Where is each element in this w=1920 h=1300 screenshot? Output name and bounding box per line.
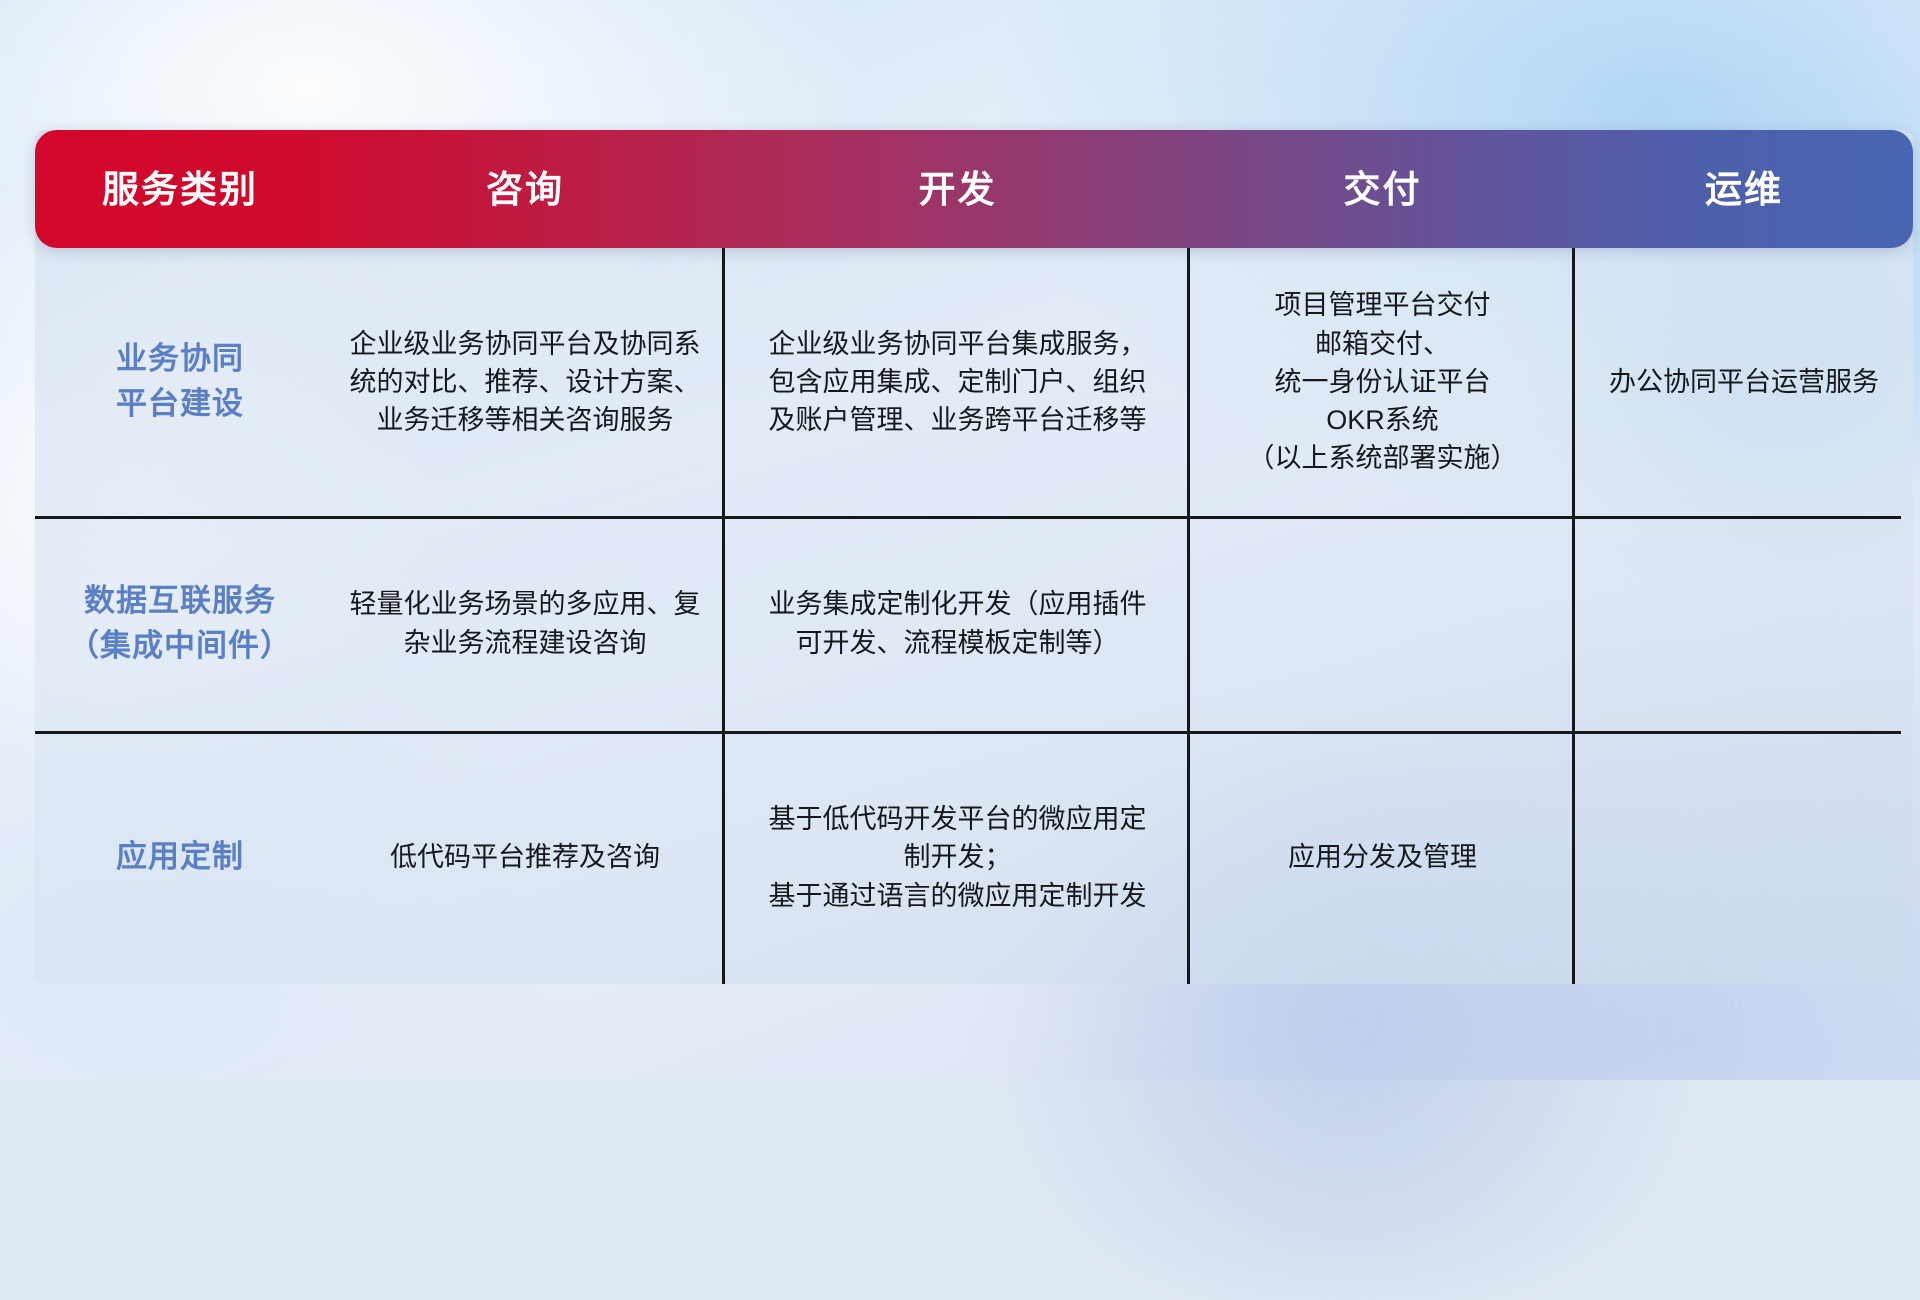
column-header-development: 开发 (725, 130, 1190, 248)
cell-text: 低代码平台推荐及咨询 (390, 838, 660, 876)
cell-text: 基于低代码开发平台的微应用定 制开发； 基于通过语言的微应用定制开发 (769, 800, 1147, 915)
cell-text: 项目管理平台交付 邮箱交付、 统一身份认证平台 OKR系统 （以上系统部署实施） (1248, 286, 1518, 478)
cell-consulting: 轻量化业务场景的多应用、复 杂业务流程建设咨询 (325, 516, 725, 731)
column-header-operations: 运维 (1575, 130, 1913, 248)
cell-development: 企业级业务协同平台集成服务， 包含应用集成、定制门户、组织 及账户管理、业务跨平… (725, 248, 1190, 516)
cell-operations (1575, 516, 1913, 731)
category-label: 数据互联服务 （集成中间件） (68, 579, 292, 669)
cell-operations (1575, 731, 1913, 984)
table-row: 应用定制 低代码平台推荐及咨询 基于低代码开发平台的微应用定 制开发； 基于通过… (35, 731, 1913, 984)
cell-delivery: 项目管理平台交付 邮箱交付、 统一身份认证平台 OKR系统 （以上系统部署实施） (1190, 248, 1575, 516)
cell-delivery (1190, 516, 1575, 731)
cell-development: 基于低代码开发平台的微应用定 制开发； 基于通过语言的微应用定制开发 (725, 731, 1190, 984)
cell-category: 数据互联服务 （集成中间件） (35, 516, 325, 731)
cell-text: 轻量化业务场景的多应用、复 杂业务流程建设咨询 (350, 585, 701, 662)
cell-delivery: 应用分发及管理 (1190, 731, 1575, 984)
cell-consulting: 企业级业务协同平台及协同系 统的对比、推荐、设计方案、 业务迁移等相关咨询服务 (325, 248, 725, 516)
cell-operations: 办公协同平台运营服务 (1575, 248, 1913, 516)
service-matrix-table: 服务类别 咨询 开发 交付 运维 业务协同 平台建设 企业级业务协同平台及协同系… (35, 130, 1913, 984)
cell-consulting: 低代码平台推荐及咨询 (325, 731, 725, 984)
cell-text: 企业级业务协同平台及协同系 统的对比、推荐、设计方案、 业务迁移等相关咨询服务 (350, 325, 701, 440)
cell-text: 办公协同平台运营服务 (1609, 363, 1879, 401)
category-label: 应用定制 (116, 835, 244, 880)
column-header-delivery: 交付 (1190, 130, 1575, 248)
category-label: 业务协同 平台建设 (116, 337, 244, 427)
cell-text: 业务集成定制化开发（应用插件 可开发、流程模板定制等） (769, 585, 1147, 662)
column-header-consulting: 咨询 (325, 130, 725, 248)
table-row: 数据互联服务 （集成中间件） 轻量化业务场景的多应用、复 杂业务流程建设咨询 业… (35, 516, 1913, 731)
table-body: 业务协同 平台建设 企业级业务协同平台及协同系 统的对比、推荐、设计方案、 业务… (35, 248, 1913, 984)
table-header-row: 服务类别 咨询 开发 交付 运维 (35, 130, 1913, 248)
cell-development: 业务集成定制化开发（应用插件 可开发、流程模板定制等） (725, 516, 1190, 731)
cell-text: 企业级业务协同平台集成服务， 包含应用集成、定制门户、组织 及账户管理、业务跨平… (769, 325, 1147, 440)
cell-category: 应用定制 (35, 731, 325, 984)
cell-text: 应用分发及管理 (1288, 838, 1477, 876)
cell-category: 业务协同 平台建设 (35, 248, 325, 516)
column-header-category: 服务类别 (35, 130, 325, 248)
table-row: 业务协同 平台建设 企业级业务协同平台及协同系 统的对比、推荐、设计方案、 业务… (35, 248, 1913, 516)
